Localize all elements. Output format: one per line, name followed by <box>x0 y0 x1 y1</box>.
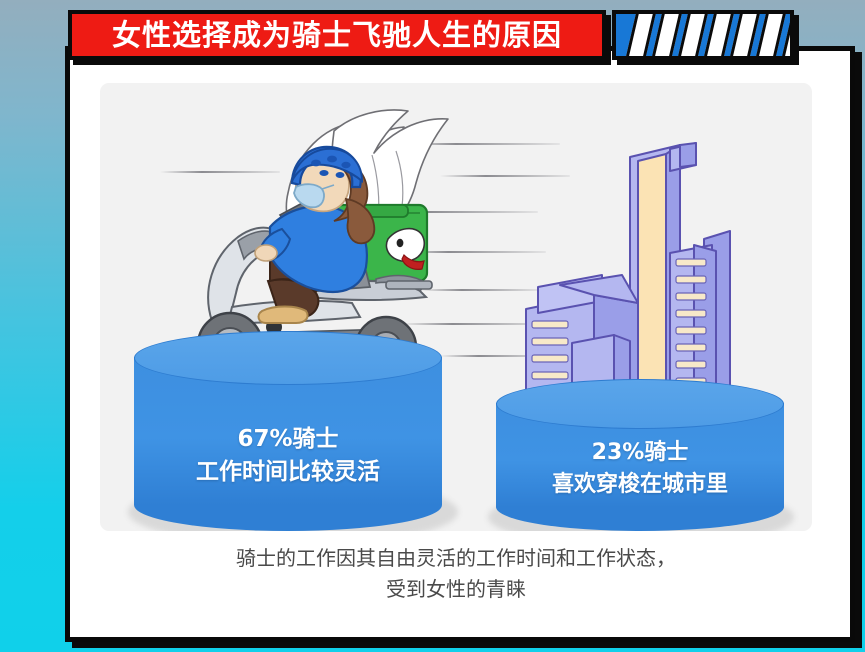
left-cylinder: 67%骑士 工作时间比较灵活 <box>134 331 442 531</box>
left-cylinder-label: 67%骑士 工作时间比较灵活 <box>134 423 442 490</box>
caption-line-1: 骑士的工作因其自由灵活的工作时间和工作状态， <box>100 543 812 574</box>
left-stat-percent: 67%骑士 <box>134 423 442 456</box>
decorative-stripe-block <box>612 10 794 60</box>
right-cylinder-label: 23%骑士 喜欢穿梭在城市里 <box>496 437 784 501</box>
delivery-rider-illustration <box>120 101 460 361</box>
left-stat-description: 工作时间比较灵活 <box>134 456 442 489</box>
caption-line-2: 受到女性的青睐 <box>100 574 812 605</box>
title-banner: 女性选择成为骑士飞驰人生的原因 <box>68 10 606 60</box>
page-title: 女性选择成为骑士飞驰人生的原因 <box>112 21 562 50</box>
left-cylinder-top <box>134 331 442 385</box>
right-stat-description: 喜欢穿梭在城市里 <box>496 469 784 501</box>
right-stat-percent: 23%骑士 <box>496 437 784 469</box>
illustration-panel: 67%骑士 工作时间比较灵活 <box>100 83 812 531</box>
right-cylinder-top <box>496 379 784 429</box>
right-cylinder: 23%骑士 喜欢穿梭在城市里 <box>496 379 784 531</box>
caption-block: 骑士的工作因其自由灵活的工作时间和工作状态， 受到女性的青睐 <box>100 543 812 605</box>
infographic-canvas: 女性选择成为骑士飞驰人生的原因 <box>0 0 865 652</box>
content-card: 67%骑士 工作时间比较灵活 <box>65 46 855 642</box>
